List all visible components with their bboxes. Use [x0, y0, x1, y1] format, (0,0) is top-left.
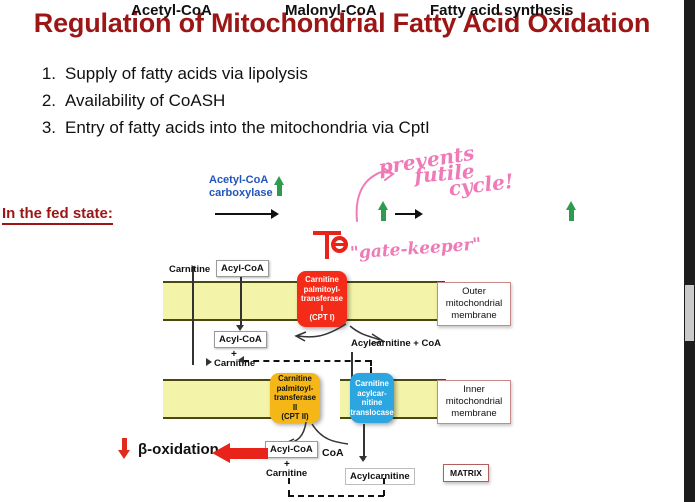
annotation-line1: prevents — [377, 141, 476, 180]
label-matrix: MATRIX — [443, 464, 489, 482]
inner-membrane-line3: membrane — [444, 408, 504, 420]
big-red-arrow-icon — [212, 443, 268, 463]
list-item-label: Supply of fatty acids via lipolysis — [65, 64, 650, 84]
term-acetyl-coa: Acetyl-CoA — [131, 2, 212, 19]
inner-membrane-line1: Inner — [444, 384, 504, 396]
annotation-gate-keeper: "gate-keeper" — [349, 234, 481, 263]
right-gutter — [684, 0, 695, 502]
enzyme-cpt2-line2: palmitoyl- — [272, 384, 318, 394]
carnitine-arrowhead-ims — [206, 358, 212, 366]
list-item: 1. Supply of fatty acids via lipolysis — [30, 64, 650, 84]
enzyme-cpt2-line1: Carnitine — [272, 374, 318, 384]
enzyme-label-acetyl-coa-carboxylase: Acetyl-CoA carboxylase — [209, 174, 273, 200]
enzyme-cpt2: Carnitine palmitoyl- transferase II (CPT… — [270, 373, 320, 423]
node-acyl-coa-matrix: Acyl-CoA — [265, 441, 318, 458]
outer-membrane-line2: mitochondrial — [444, 298, 504, 310]
list-item-number: 3. — [30, 118, 65, 138]
annotation-prevents-futile-cycle: prevents futile cycle! — [377, 141, 476, 180]
node-acylcarnitine-matrix: Acylcarnitine — [345, 468, 415, 485]
annotation-line2: futile — [413, 159, 475, 188]
annotation-line3: cycle! — [447, 169, 515, 201]
dashed-return-arrowhead — [238, 356, 244, 364]
translocase-line2: acylcar- — [350, 389, 393, 399]
handwritten-hook-icon — [355, 165, 395, 223]
node-acyl-coa-cytosol: Acyl-CoA — [216, 260, 269, 277]
list-item-label: Entry of fatty acids into the mitochondr… — [65, 118, 650, 138]
dashed-loop-left — [288, 478, 290, 496]
enzyme-carnitine-acylcarnitine-translocase: Carnitine acylcar- nitine translocase — [350, 373, 394, 423]
label-carnitine-matrix: Carnitine — [266, 468, 307, 479]
inner-membrane-line2: mitochondrial — [444, 396, 504, 408]
label-acylcarnitine-plus-coa: Acylcarnitine + CoA — [351, 338, 441, 349]
dashed-loop-bottom — [288, 495, 384, 497]
acylcarnitine-matrix-line — [363, 424, 365, 460]
acylcarnitine-matrix-arrowhead — [359, 456, 367, 462]
inhibition-symbol-icon — [313, 231, 349, 263]
reaction-arrowhead-2 — [415, 209, 423, 219]
list-item: 2. Availability of CoASH — [30, 91, 650, 111]
reaction-arrow-2 — [395, 213, 417, 215]
label-coa: CoA — [322, 447, 344, 459]
reaction-arrowhead-1 — [271, 209, 279, 219]
label-inner-mitochondrial-membrane: Inner mitochondrial membrane — [437, 380, 511, 424]
list-item-number: 2. — [30, 91, 65, 111]
term-malonyl-coa: Malonyl-CoA — [285, 2, 377, 19]
enzyme-label-line1: Acetyl-CoA — [209, 174, 273, 187]
enzyme-label-line2: carboxylase — [209, 187, 273, 200]
slide-canvas: Regulation of Mitochondrial Fatty Acid O… — [0, 0, 684, 502]
list-item-number: 1. — [30, 64, 65, 84]
acylcoa-transit-line — [240, 275, 242, 327]
bullet-list: 1. Supply of fatty acids via lipolysis 2… — [30, 64, 650, 145]
enzyme-cpt1-line1: Carnitine — [299, 275, 345, 285]
fed-state-label: In the fed state: — [2, 205, 113, 225]
vertical-scrollbar-thumb[interactable] — [685, 285, 694, 341]
reaction-arrow-1 — [215, 213, 273, 215]
label-outer-mitochondrial-membrane: Outer mitochondrial membrane — [437, 282, 511, 326]
dashed-loop-right — [383, 478, 385, 496]
list-item: 3. Entry of fatty acids into the mitocho… — [30, 118, 650, 138]
list-item-label: Availability of CoASH — [65, 91, 650, 111]
enzyme-cpt1-line2: palmitoyl- — [299, 285, 345, 295]
label-beta-oxidation: β-oxidation — [138, 441, 219, 458]
label-carnitine-top: Carnitine — [169, 264, 210, 275]
inner-mitochondrial-membrane-band-left — [163, 379, 275, 419]
outer-membrane-line1: Outer — [444, 286, 504, 298]
enzyme-cpt2-line3: transferase II — [272, 393, 318, 412]
translocase-line1: Carnitine — [350, 379, 393, 389]
translocase-line3: nitine — [350, 398, 393, 408]
cpt1-reaction-curves — [250, 310, 420, 360]
translocase-line4: translocase — [350, 408, 393, 418]
term-fatty-acid-synthesis: Fatty acid synthesis — [430, 2, 573, 19]
carnitine-transit-line — [192, 266, 194, 365]
outer-membrane-line3: membrane — [444, 310, 504, 322]
